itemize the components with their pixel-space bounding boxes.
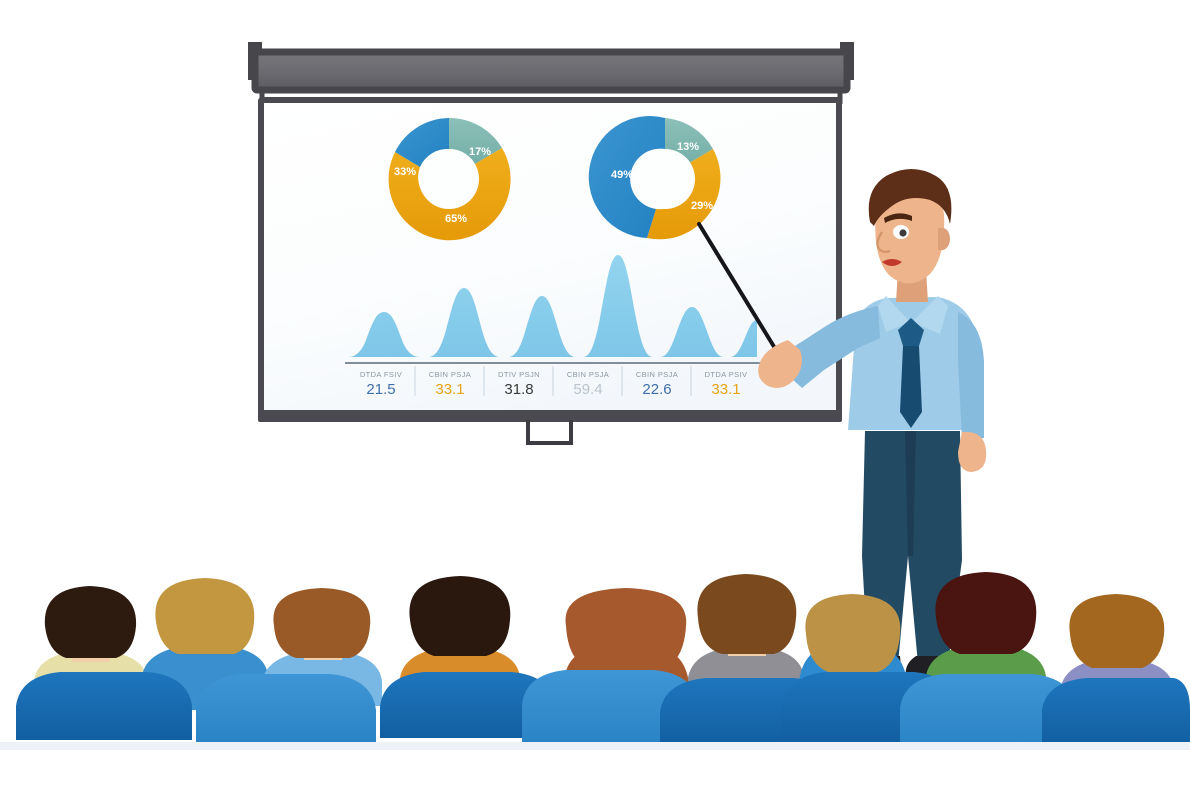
- presenter-arm-right: [958, 312, 984, 440]
- floor-strip: [0, 742, 1190, 750]
- presenter-eye-iris: [899, 229, 906, 236]
- axis-value-5: 22.6: [642, 381, 671, 398]
- audience-8-hair: [935, 572, 1036, 654]
- presenter-tie-body: [900, 346, 922, 428]
- axis-caption-1: DTDA FSIV: [360, 370, 402, 379]
- donut-right-label-teal: 13%: [677, 141, 699, 153]
- screen-pull-handle[interactable]: [528, 420, 571, 443]
- audience-4-hair: [409, 576, 510, 656]
- screen-roller-casing: [248, 42, 854, 90]
- axis-value-2: 33.1: [435, 381, 464, 398]
- donut-right-hole: [635, 149, 695, 209]
- presenter-ear: [938, 228, 950, 251]
- audience-3-hair: [273, 588, 370, 658]
- axis-value-3: 31.8: [504, 381, 533, 398]
- axis-caption-3: DTIV PSJN: [498, 370, 540, 379]
- donut-chart-left: 17% 65% 33%: [389, 118, 511, 240]
- chair-back-8[interactable]: [1042, 678, 1190, 744]
- axis-value-4: 59.4: [573, 381, 602, 398]
- audience-9-hair: [1069, 594, 1164, 668]
- projection-screen[interactable]: [248, 42, 854, 443]
- axis-value-6: 33.1: [711, 381, 740, 398]
- audience-2-hair: [155, 578, 254, 654]
- screen-surface: [261, 100, 839, 418]
- audience: [0, 572, 1190, 750]
- donut-right-label-orange: 29%: [691, 200, 713, 212]
- axis-caption-4: CBIN PSJA: [567, 370, 609, 379]
- audience-7-hair: [805, 594, 900, 672]
- donut-chart-right: 13% 29% 49%: [589, 116, 721, 239]
- axis-caption-2: CBIN PSJA: [429, 370, 471, 379]
- audience-1-hair: [45, 586, 136, 658]
- illustration-canvas: 17% 65% 33% 13% 29% 49%: [0, 0, 1190, 788]
- chair-back-2[interactable]: [196, 674, 376, 742]
- donut-left-label-blue: 33%: [394, 166, 416, 178]
- axis-caption-6: DTDA PSIV: [705, 370, 748, 379]
- donut-left-hole: [419, 149, 479, 209]
- axis-value-1: 21.5: [366, 381, 395, 398]
- presentation-illustration: 17% 65% 33% 13% 29% 49%: [0, 0, 1190, 788]
- audience-5-hair: [566, 588, 687, 668]
- screen-weight-bar: [258, 410, 842, 422]
- audience-6-hair: [697, 574, 796, 654]
- donut-right-label-blue: 49%: [611, 169, 633, 181]
- donut-left-label-orange: 65%: [445, 213, 467, 225]
- chair-back-1[interactable]: [16, 672, 192, 740]
- donut-left-label-teal: 17%: [469, 146, 491, 158]
- axis-caption-5: CBIN PSJA: [636, 370, 678, 379]
